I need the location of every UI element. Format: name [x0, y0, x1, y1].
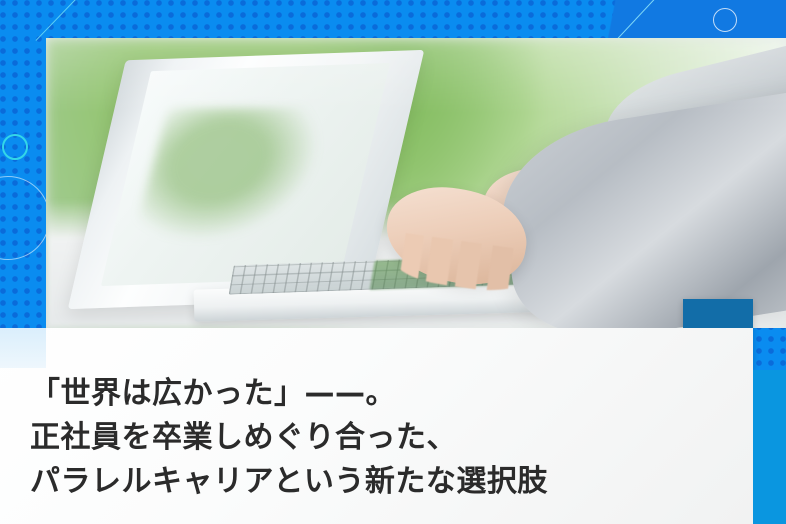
hero-photo-content — [46, 38, 786, 328]
headline-line-2: 正社員を卒業しめぐり合った、 — [30, 416, 730, 460]
headline-panel-left-tint — [0, 328, 46, 368]
hero-photo — [46, 38, 786, 328]
headline-line-1: 「世界は広かった」——。 — [30, 372, 730, 416]
circle-outline-top-right-icon — [713, 8, 737, 32]
page-title: 「世界は広かった」——。 正社員を卒業しめぐり合った、 パラレルキャリアという新… — [30, 372, 730, 504]
article-hero-banner: vol.06 「世界は広かった」——。 正社員を卒業しめぐり合った、 パラレルキ… — [0, 0, 786, 524]
headline-line-3: パラレルキャリアという新たな選択肢 — [30, 460, 730, 504]
right-blue-strip — [753, 370, 786, 524]
circle-outline-left-small-icon — [2, 134, 28, 160]
